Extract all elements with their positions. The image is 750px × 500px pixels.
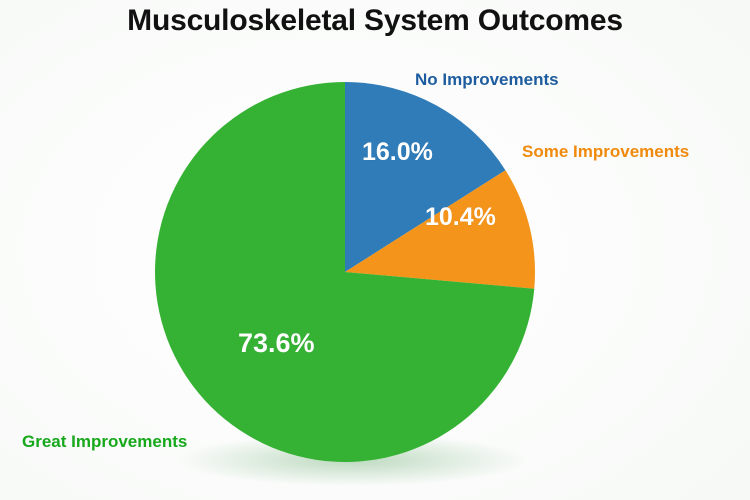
slice-value-great-improvements: 73.6% [238, 328, 315, 359]
pie-chart: 16.0% 10.4% 73.6% [0, 0, 750, 500]
category-label-great-improvements: Great Improvements [22, 432, 187, 452]
slice-value-some-improvements: 10.4% [425, 203, 496, 232]
category-label-some-improvements: Some Improvements [522, 142, 689, 162]
category-label-no-improvements: No Improvements [415, 70, 559, 90]
chart-canvas: Musculoskeletal System Outcomes 16.0% 10… [0, 0, 750, 500]
pie-chart-svg [0, 0, 750, 500]
slice-value-no-improvements: 16.0% [362, 138, 433, 167]
pie-slices [155, 82, 535, 462]
